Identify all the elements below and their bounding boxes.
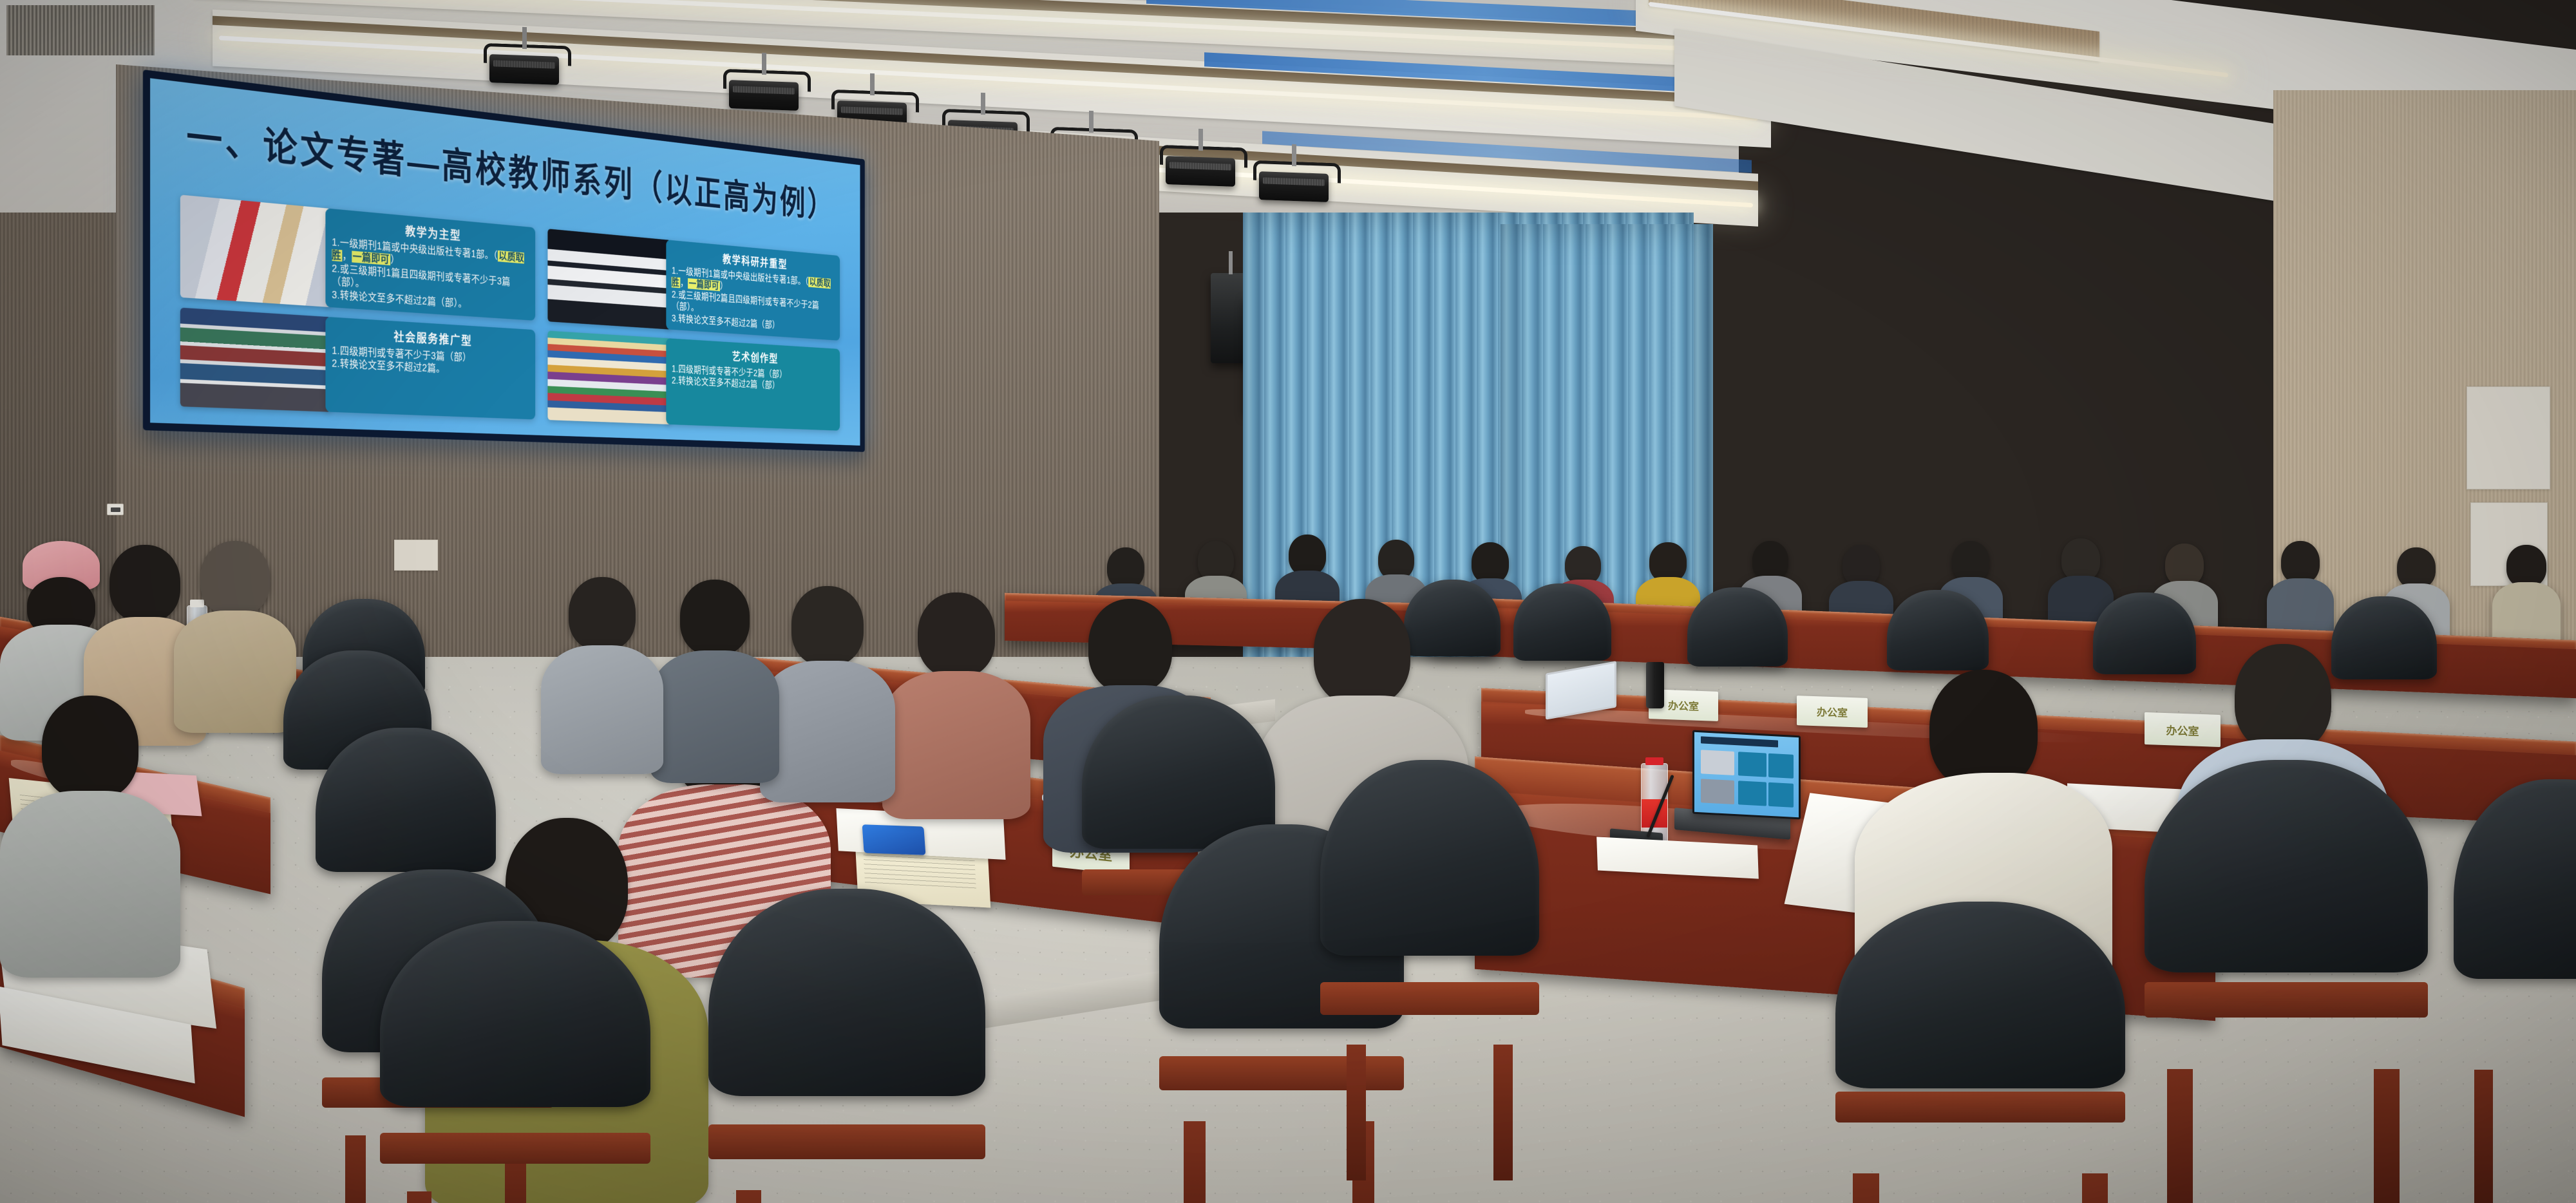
bottle-cap <box>1645 757 1664 765</box>
attendee-head <box>2165 544 2204 586</box>
light-switch <box>107 504 124 515</box>
attendee-head <box>680 580 750 656</box>
chair-armrest <box>708 1124 985 1159</box>
attendee-head <box>2235 644 2331 752</box>
spotlight-lens <box>1263 177 1325 185</box>
chair-backrest <box>1835 902 2125 1088</box>
attendee-head <box>1565 546 1601 585</box>
chair-leg <box>2374 1069 2400 1203</box>
attendee-head <box>1198 541 1234 581</box>
chair-leg <box>2082 1173 2108 1203</box>
attendee-torso <box>0 791 180 978</box>
chair-armrest <box>1159 1056 1404 1090</box>
attendee-mid-row <box>650 580 779 773</box>
chair-backrest <box>316 728 496 872</box>
chair-leg <box>1493 1045 1513 1181</box>
attendee-head <box>200 541 270 616</box>
slide-panel-artistic-creation: 艺术创作型 1.四级期刊或专著不少于2篇（部） 2.转换论文至多不超过2篇（部） <box>547 330 839 430</box>
attendee-left-row <box>174 541 296 728</box>
chair-leg <box>2167 1069 2193 1203</box>
laptop-slide-panel <box>1738 781 1766 806</box>
attendee-head <box>1842 545 1880 586</box>
conference-chair-right-foreground[interactable] <box>2145 760 2428 1082</box>
panel-text-block: 教学为主型 1.一级期刊1篇或中央级出版社专著1部。（以质取胜，一篇即可） 2.… <box>325 208 535 321</box>
panel-sep: ， <box>680 278 688 289</box>
attendee-head <box>1378 540 1414 580</box>
chair-armrest <box>2145 982 2428 1018</box>
conference-chair-tall[interactable] <box>1320 760 1539 1056</box>
spotlight-lens <box>493 60 555 68</box>
attendee-head <box>1752 541 1788 581</box>
attendee-head <box>2061 538 2100 581</box>
panel-paren: ） <box>720 281 728 292</box>
wall-frame-plate <box>394 540 438 571</box>
chair-armrest <box>1320 982 1539 1015</box>
chair-armrest <box>1835 1092 2125 1122</box>
attendee-head <box>109 545 180 622</box>
laptop-slide-panel <box>1738 752 1766 777</box>
attendee-head <box>918 592 995 677</box>
chair-backrest <box>380 921 650 1107</box>
chair-backrest <box>708 889 985 1096</box>
attendee-head <box>1107 547 1144 589</box>
panel-sep: ， <box>343 250 352 262</box>
conference-room-scene: 一、论文专著—高校教师系列（以正高为例） 教学为主型 1.一级期刊1篇或中央级出… <box>0 0 2576 1203</box>
laptop-display <box>1694 732 1799 817</box>
panel-text-block: 艺术创作型 1.四级期刊或专著不少于2篇（部） 2.转换论文至多不超过2篇（部） <box>667 338 840 431</box>
attendee-head <box>1088 599 1172 693</box>
conference-chair-foreground[interactable] <box>380 921 650 1203</box>
color-book-tower-image <box>547 330 670 424</box>
attendee-head <box>42 696 138 800</box>
attendee-torso <box>541 645 663 774</box>
thermos-tumbler <box>1646 662 1664 708</box>
chair-leg <box>2474 1070 2493 1203</box>
attendee-torso <box>882 671 1030 819</box>
laptop-slide-panel <box>1768 753 1794 779</box>
spotlight-lens <box>1170 162 1231 170</box>
conference-chair[interactable] <box>1687 587 1788 707</box>
ceiling-spotlight-1 <box>489 54 559 85</box>
conference-chair-center-left[interactable] <box>708 889 985 1203</box>
attendee-head <box>1314 599 1410 706</box>
attendee-head <box>2506 545 2546 587</box>
laptop-slide-image <box>1701 750 1734 776</box>
chair-leg <box>407 1191 431 1203</box>
attendee-torso <box>650 650 779 783</box>
panel-paren: ） <box>390 254 399 267</box>
speaker-mount-stem <box>1229 251 1233 274</box>
conference-chair-far-right[interactable] <box>2454 779 2576 1082</box>
laptop-screen[interactable] <box>1692 730 1801 820</box>
chair-armrest <box>380 1133 650 1164</box>
attendee-head <box>1289 535 1326 576</box>
laptop-slide-title-bar <box>1701 736 1778 747</box>
slide-panel-grid: 教学为主型 1.一级期刊1篇或中央级出版社专著1部。（以质取胜，一篇即可） 2.… <box>180 194 840 431</box>
chair-leg <box>345 1135 366 1203</box>
attendee-head <box>2397 547 2436 589</box>
slide-panel-teaching-focused: 教学为主型 1.一级期刊1篇或中央级出版社专著1部。（以质取胜，一篇即可） 2.… <box>180 194 535 321</box>
attendee-mid-row <box>760 586 895 792</box>
chair-leg <box>1184 1121 1206 1203</box>
chair-leg <box>1347 1045 1367 1181</box>
open-book-image <box>180 194 331 307</box>
chair-backrest <box>2145 760 2428 972</box>
attendee-left-foreground <box>0 696 180 966</box>
ceiling-air-vent <box>6 5 155 55</box>
ceiling-spotlight-2 <box>729 80 799 111</box>
wall-notice-panel <box>2467 386 2550 489</box>
book-stack-image <box>547 229 670 330</box>
chair-backrest <box>1320 760 1539 956</box>
panel-text-block: 社会服务推广型 1.四级期刊或专著不少于3篇（部） 2.转换论文至多不超过2篇。 <box>325 317 535 420</box>
chair-leg <box>1853 1173 1879 1203</box>
chair-backrest <box>1687 587 1788 667</box>
chair-leg <box>736 1190 761 1203</box>
attendee-head <box>2281 541 2320 583</box>
attendee-head <box>1649 542 1687 582</box>
spotlight-lens <box>733 86 795 94</box>
chair-backrest <box>2454 779 2576 979</box>
chair-backrest <box>1887 590 1989 670</box>
presenter-head <box>1929 670 2038 790</box>
laptop-slide-image <box>1701 779 1734 804</box>
attendee-torso <box>174 611 296 733</box>
ceiling-spotlight-7 <box>1259 171 1329 202</box>
slide-panel-teaching-research-balanced: 教学科研并重型 1.一级期刊1篇或中央级出版社专著1部。（以质取胜，一篇即可） … <box>547 229 839 341</box>
laptop-slide-panel <box>1768 782 1794 808</box>
chair-backrest <box>1513 583 1611 661</box>
attendee-mid-row <box>882 592 1030 811</box>
bookshelf-image <box>180 308 331 412</box>
attendee-back-row <box>2492 545 2561 650</box>
attendee-head <box>1472 542 1509 583</box>
attendee-torso <box>760 661 895 802</box>
attendee-mid-row <box>541 577 663 764</box>
ceiling-spotlight-6 <box>1166 156 1235 187</box>
attendee-head <box>791 586 864 666</box>
attendee-head <box>1952 541 1989 582</box>
slide-panel-social-service: 社会服务推广型 1.四级期刊或专著不少于3篇（部） 2.转换论文至多不超过2篇。 <box>180 308 535 420</box>
smartphone[interactable] <box>862 824 926 855</box>
panel-text-block: 教学科研并重型 1.一级期刊1篇或中央级出版社专著1部。（以质取胜，一篇即可） … <box>667 240 840 341</box>
presenter-chair[interactable] <box>1835 902 2125 1185</box>
spotlight-lens <box>841 106 903 115</box>
attendee-head <box>569 577 636 650</box>
